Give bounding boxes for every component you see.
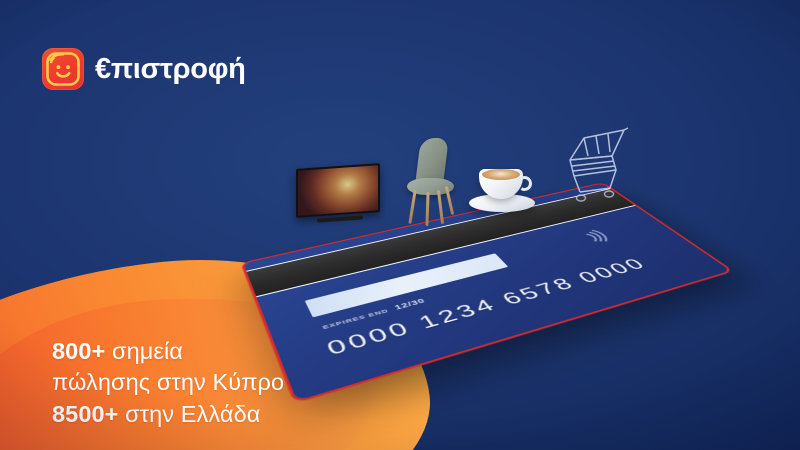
chair-leg xyxy=(437,190,444,224)
tv-icon xyxy=(296,166,384,226)
contactless-payment-icon xyxy=(574,227,618,248)
chair-leg xyxy=(425,192,429,226)
smiley-return-arrow-icon xyxy=(42,48,84,90)
tv-stand xyxy=(317,215,363,222)
headline-line-2: πώλησης στην Κύπρο xyxy=(52,367,284,398)
headline-line-1: 800+ σημεία xyxy=(52,336,284,367)
brand-logo[interactable]: €πιστροφή xyxy=(42,48,246,90)
headline-count-greece: 8500+ xyxy=(52,401,119,427)
coffee-crema xyxy=(482,169,520,180)
coffee-cup-icon xyxy=(467,161,539,223)
brand-name: €πιστροφή xyxy=(95,55,246,84)
tv-screen xyxy=(296,163,380,218)
headline-line-3-rest: στην Ελλάδα xyxy=(119,401,261,427)
headline-line-1-rest: σημεία xyxy=(105,338,183,364)
headline-count-cyprus: 800+ xyxy=(52,338,105,364)
headline-line-3: 8500+ στην Ελλάδα xyxy=(52,399,284,430)
card-expiry: EXPIRES END12/30 xyxy=(321,298,427,331)
promo-banner: €πιστροφή xyxy=(0,0,800,450)
shopping-cart-icon xyxy=(550,116,632,212)
card-number: 0000 1234 6578 0000 xyxy=(323,255,652,360)
credit-card-illustration: EXPIRES END12/30 0000 1234 6578 0000 xyxy=(262,118,740,333)
card-expiry-value: 12/30 xyxy=(394,298,427,312)
card-expiry-label: EXPIRES END xyxy=(322,308,390,331)
chair-leg xyxy=(408,190,416,224)
headline-text: 800+ σημεία πώλησης στην Κύπρο 8500+ στη… xyxy=(52,336,284,430)
chair-icon xyxy=(402,138,458,224)
